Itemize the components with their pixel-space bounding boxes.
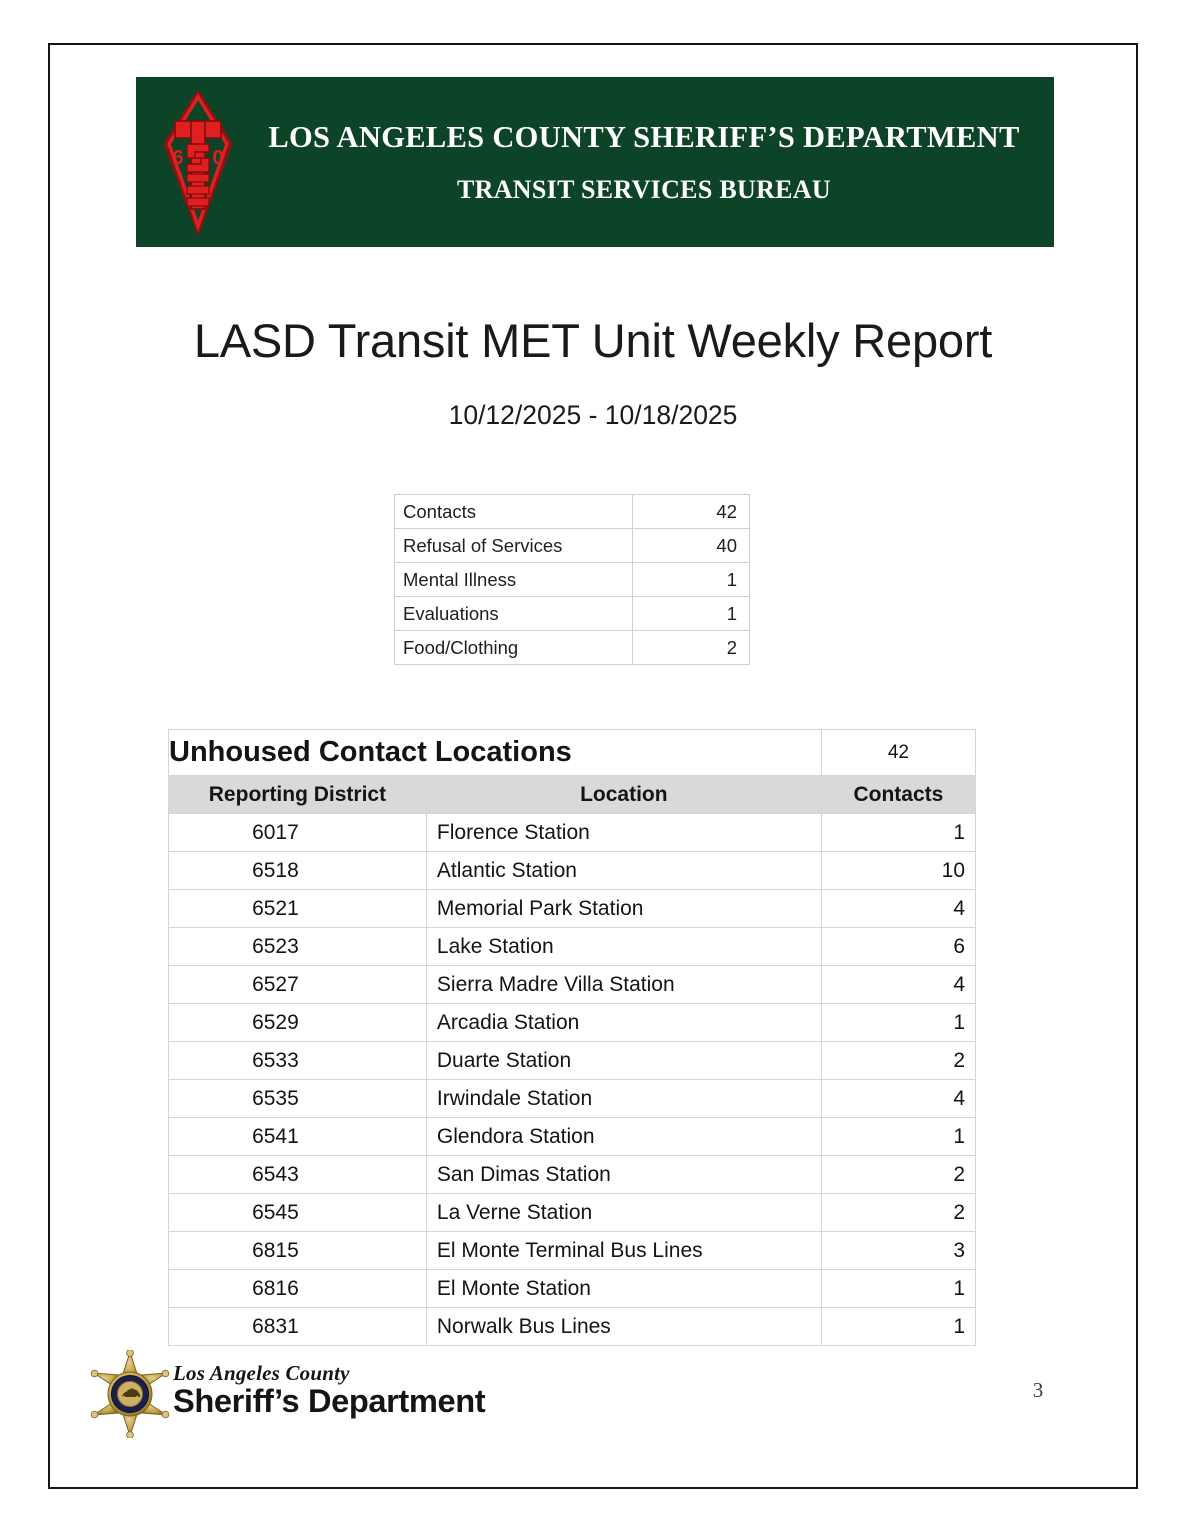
footer-county-label: Los Angeles County — [173, 1362, 503, 1384]
unhoused-contact-locations-table: Unhoused Contact Locations 42 Reporting … — [168, 729, 976, 1346]
table-row: Evaluations 1 — [395, 597, 750, 631]
cell-contacts: 1 — [821, 1118, 975, 1156]
table-row: 6815 El Monte Terminal Bus Lines 3 — [169, 1232, 976, 1270]
summary-label: Refusal of Services — [395, 529, 633, 563]
table-row: Mental Illness 1 — [395, 563, 750, 597]
table-row: 6017 Florence Station 1 — [169, 814, 976, 852]
svg-text:6: 6 — [172, 147, 183, 169]
cell-reporting-district: 6543 — [169, 1156, 427, 1194]
page-title: LASD Transit MET Unit Weekly Report — [50, 313, 1136, 368]
table-row: 6521 Memorial Park Station 4 — [169, 890, 976, 928]
cell-location: Florence Station — [426, 814, 821, 852]
cell-reporting-district: 6521 — [169, 890, 427, 928]
cell-reporting-district: 6535 — [169, 1080, 427, 1118]
cell-location: El Monte Station — [426, 1270, 821, 1308]
cell-reporting-district: 6545 — [169, 1194, 427, 1232]
locations-table-title: Unhoused Contact Locations — [169, 730, 822, 776]
cell-location: La Verne Station — [426, 1194, 821, 1232]
summary-value: 2 — [633, 631, 750, 665]
cell-contacts: 10 — [821, 852, 975, 890]
table-row: Contacts 42 — [395, 495, 750, 529]
cell-reporting-district: 6831 — [169, 1308, 427, 1346]
table-row: 6816 El Monte Station 1 — [169, 1270, 976, 1308]
cell-reporting-district: 6533 — [169, 1042, 427, 1080]
cell-contacts: 2 — [821, 1194, 975, 1232]
page-frame: 6 0 LOS ANGELES COUNTY SHERIFF’S DEPARTM… — [48, 43, 1138, 1489]
locations-table-head: Unhoused Contact Locations 42 Reporting … — [169, 730, 976, 814]
cell-location: Irwindale Station — [426, 1080, 821, 1118]
summary-label: Food/Clothing — [395, 631, 633, 665]
summary-label: Evaluations — [395, 597, 633, 631]
cell-reporting-district: 6815 — [169, 1232, 427, 1270]
locations-total-contacts: 42 — [821, 730, 975, 776]
summary-label: Mental Illness — [395, 563, 633, 597]
table-row: 6523 Lake Station 6 — [169, 928, 976, 966]
table-row: Food/Clothing 2 — [395, 631, 750, 665]
table-row: 6831 Norwalk Bus Lines 1 — [169, 1308, 976, 1346]
table-row: 6529 Arcadia Station 1 — [169, 1004, 976, 1042]
footer-department-label: Sheriff’s Department — [173, 1384, 510, 1418]
cell-reporting-district: 6529 — [169, 1004, 427, 1042]
lasd-star-badge-icon — [87, 1350, 173, 1438]
cell-contacts: 1 — [821, 1308, 975, 1346]
table-row: 6527 Sierra Madre Villa Station 4 — [169, 966, 976, 1004]
cell-contacts: 1 — [821, 814, 975, 852]
footer-wordmark: Los Angeles County Sheriff’s Department — [173, 1362, 503, 1418]
cell-contacts: 2 — [821, 1156, 975, 1194]
summary-value: 40 — [633, 529, 750, 563]
cell-contacts: 2 — [821, 1042, 975, 1080]
locations-column-header-row: Reporting District Location Contacts — [169, 776, 976, 814]
cell-location: Duarte Station — [426, 1042, 821, 1080]
footer-logo: Los Angeles County Sheriff’s Department — [87, 1348, 507, 1440]
cell-reporting-district: 6527 — [169, 966, 427, 1004]
cell-location: Sierra Madre Villa Station — [426, 966, 821, 1004]
table-row: 6543 San Dimas Station 2 — [169, 1156, 976, 1194]
table-row: Refusal of Services 40 — [395, 529, 750, 563]
department-banner: 6 0 LOS ANGELES COUNTY SHERIFF’S DEPARTM… — [136, 77, 1054, 247]
cell-contacts: 4 — [821, 890, 975, 928]
cell-location: Norwalk Bus Lines — [426, 1308, 821, 1346]
summary-label: Contacts — [395, 495, 633, 529]
svg-text:0: 0 — [212, 147, 223, 169]
summary-value: 1 — [633, 563, 750, 597]
column-header-location: Location — [426, 776, 821, 814]
banner-text-block: LOS ANGELES COUNTY SHERIFF’S DEPARTMENT … — [244, 77, 1044, 247]
locations-title-row: Unhoused Contact Locations 42 — [169, 730, 976, 776]
cell-reporting-district: 6518 — [169, 852, 427, 890]
cell-location: Lake Station — [426, 928, 821, 966]
cell-reporting-district: 6816 — [169, 1270, 427, 1308]
banner-bureau-name: TRANSIT SERVICES BUREAU — [457, 175, 831, 205]
cell-reporting-district: 6017 — [169, 814, 427, 852]
table-row: 6541 Glendora Station 1 — [169, 1118, 976, 1156]
table-row: 6535 Irwindale Station 4 — [169, 1080, 976, 1118]
cell-contacts: 4 — [821, 966, 975, 1004]
banner-agency-name: LOS ANGELES COUNTY SHERIFF’S DEPARTMENT — [268, 120, 1019, 155]
cell-contacts: 6 — [821, 928, 975, 966]
cell-contacts: 1 — [821, 1004, 975, 1042]
tsb-diamond-logo: 6 0 — [161, 88, 235, 236]
table-row: 6518 Atlantic Station 10 — [169, 852, 976, 890]
cell-location: Arcadia Station — [426, 1004, 821, 1042]
column-header-reporting-district: Reporting District — [169, 776, 427, 814]
locations-table-body: 6017 Florence Station 1 6518 Atlantic St… — [169, 814, 976, 1346]
cell-location: San Dimas Station — [426, 1156, 821, 1194]
cell-location: Atlantic Station — [426, 852, 821, 890]
column-header-contacts: Contacts — [821, 776, 975, 814]
page-number: 3 — [1018, 1378, 1058, 1403]
summary-statistics-table: Contacts 42 Refusal of Services 40 Menta… — [394, 494, 750, 665]
cell-contacts: 4 — [821, 1080, 975, 1118]
summary-table-body: Contacts 42 Refusal of Services 40 Menta… — [395, 495, 750, 665]
table-row: 6533 Duarte Station 2 — [169, 1042, 976, 1080]
cell-reporting-district: 6541 — [169, 1118, 427, 1156]
cell-location: Glendora Station — [426, 1118, 821, 1156]
cell-contacts: 3 — [821, 1232, 975, 1270]
table-row: 6545 La Verne Station 2 — [169, 1194, 976, 1232]
cell-reporting-district: 6523 — [169, 928, 427, 966]
cell-contacts: 1 — [821, 1270, 975, 1308]
cell-location: El Monte Terminal Bus Lines — [426, 1232, 821, 1270]
cell-location: Memorial Park Station — [426, 890, 821, 928]
summary-value: 42 — [633, 495, 750, 529]
summary-value: 1 — [633, 597, 750, 631]
report-date-range: 10/12/2025 - 10/18/2025 — [50, 400, 1136, 431]
